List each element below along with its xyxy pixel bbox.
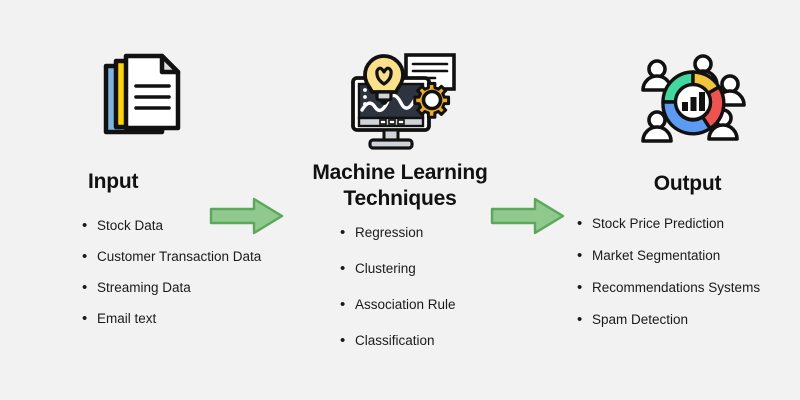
- documents-stack-icon: [96, 52, 188, 147]
- heading-line-1: Machine Learning: [312, 161, 487, 184]
- list-item: Streaming Data: [82, 280, 282, 297]
- techniques-list: Regression Clustering Association Rule C…: [340, 225, 525, 369]
- donut-chart-people-icon: [637, 52, 749, 148]
- list-item: Association Rule: [340, 297, 525, 314]
- diagram-canvas: Input Stock Data Customer Transaction Da…: [0, 0, 800, 400]
- output-list: Stock Price Prediction Market Segmentati…: [577, 216, 800, 344]
- page-title-output: Output: [565, 172, 800, 196]
- input-list: Stock Data Customer Transaction Data Str…: [82, 218, 282, 342]
- list-item: Recommendations Systems: [577, 280, 800, 297]
- arrow-techniques-to-output: [489, 196, 567, 236]
- techniques-icon-wrap: [285, 52, 515, 152]
- column-techniques: Machine Learning Techniques Regression C…: [285, 0, 515, 400]
- list-item: Clustering: [340, 261, 525, 278]
- list-item: Customer Transaction Data: [82, 249, 282, 266]
- list-item: Email text: [82, 311, 282, 328]
- lightbulb-monitor-gear-icon: [340, 52, 460, 152]
- list-item: Market Segmentation: [577, 248, 800, 265]
- output-icon-wrap: [565, 52, 800, 152]
- list-item: Stock Price Prediction: [577, 216, 800, 233]
- list-item: Classification: [340, 333, 525, 350]
- arrow-input-to-techniques: [208, 196, 286, 236]
- page-title-techniques: Machine Learning Techniques: [285, 160, 515, 211]
- column-output: Output Stock Price Prediction Market Seg…: [565, 0, 800, 400]
- heading-line-2: Techniques: [343, 187, 456, 210]
- donut-chart: [662, 72, 723, 134]
- list-item: Spam Detection: [577, 312, 800, 329]
- page-title-input: Input: [60, 170, 290, 194]
